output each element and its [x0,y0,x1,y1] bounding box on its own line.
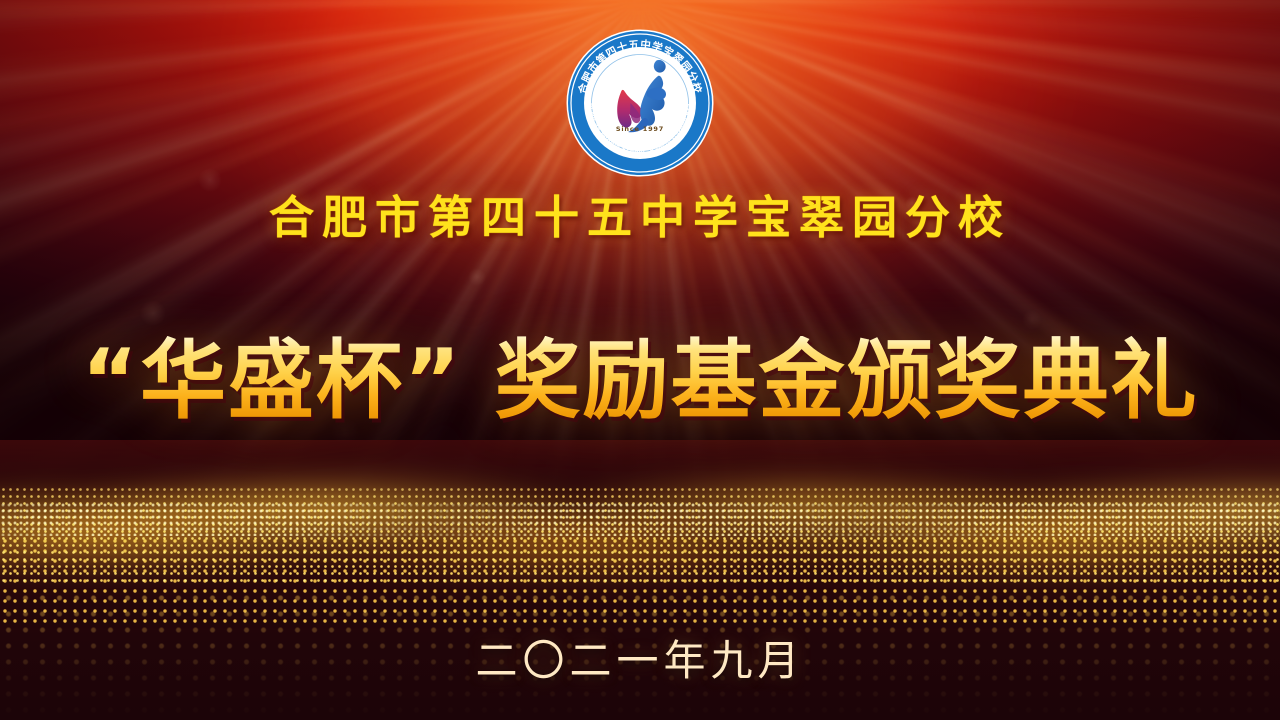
poster-stage: 合肥市第四十五中学宝翠园分校 Hefei No.45 Middle School… [0,0,1280,720]
wave-sky-blend [0,440,1280,510]
school-crest-logo: 合肥市第四十五中学宝翠园分校 Hefei No.45 Middle School… [565,28,715,178]
page-title: “华盛杯” 奖励基金颁奖典礼 [0,336,1280,426]
school-crest-icon: 合肥市第四十五中学宝翠园分校 Hefei No.45 Middle School… [565,28,715,178]
event-date: 二〇二一年九月 [0,627,1280,688]
crest-founded-text: Since 1997 [616,125,664,133]
school-name-heading: 合肥市第四十五中学宝翠园分校 [0,181,1280,246]
